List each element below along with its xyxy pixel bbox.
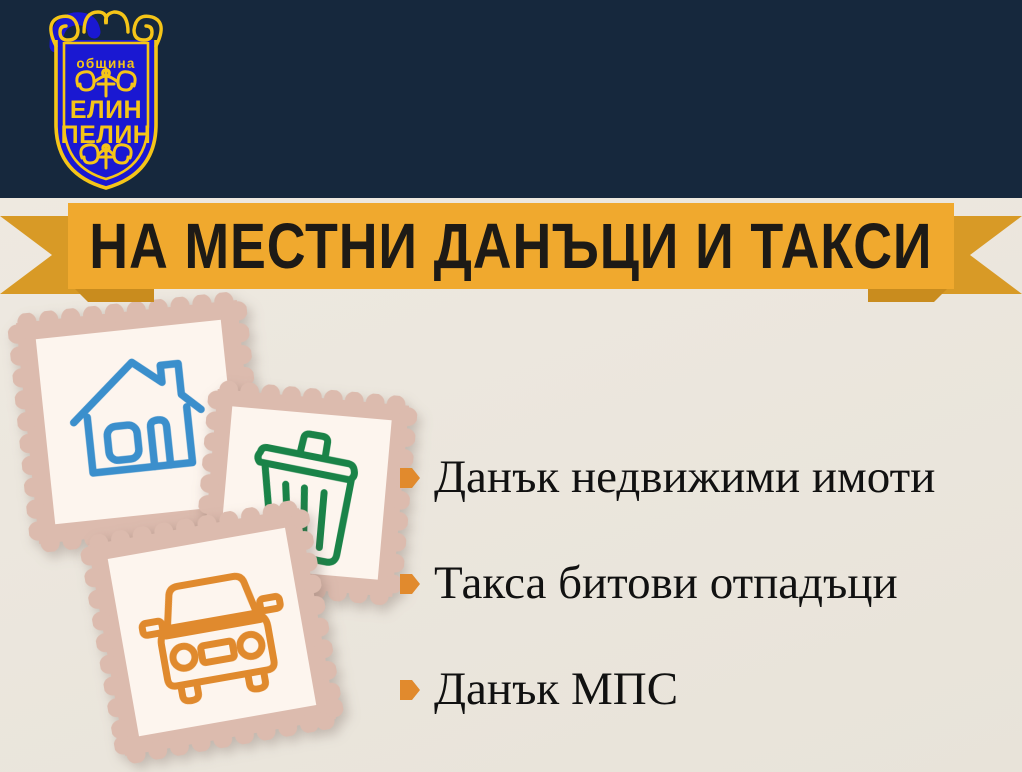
stamp-border-car: [78, 498, 347, 767]
stamp-illustration-group: [0, 300, 430, 772]
ribbon-text: НА МЕСТНИ ДАНЪЦИ И ТАКСИ: [89, 214, 932, 278]
list-item-label: Данък недвижими имоти: [434, 451, 935, 503]
poster-canvas: ПРОВЕРКА И ПЛАЩАНЕ НА ЗАДЪЛЖЕНИЯ община: [0, 0, 1022, 772]
crest-name-line-1: ЕЛИН: [70, 96, 142, 124]
list-item-label: Такса битови отпадъци: [434, 557, 898, 609]
tax-types-list: Данък недвижими имоти Такса битови отпад…: [400, 424, 1010, 742]
stamp-card-vehicle-tax: [78, 498, 347, 767]
list-item[interactable]: Такса битови отпадъци: [400, 530, 1010, 636]
ribbon-center-panel: НА МЕСТНИ ДАНЪЦИ И ТАКСИ: [68, 203, 954, 289]
ribbon-banner: НА МЕСТНИ ДАНЪЦИ И ТАКСИ: [0, 196, 1022, 308]
arrow-bullet-icon: [400, 678, 420, 702]
list-item-label: Данък МПС: [434, 663, 678, 715]
list-item[interactable]: Данък МПС: [400, 636, 1010, 742]
arrow-bullet-icon: [400, 466, 420, 490]
crest-svg: община ЕЛИН ПЕЛИН: [22, 6, 190, 194]
list-item[interactable]: Данък недвижими имоти: [400, 424, 1010, 530]
municipality-crest-logo: община ЕЛИН ПЕЛИН: [22, 6, 190, 194]
arrow-bullet-icon: [400, 572, 420, 596]
